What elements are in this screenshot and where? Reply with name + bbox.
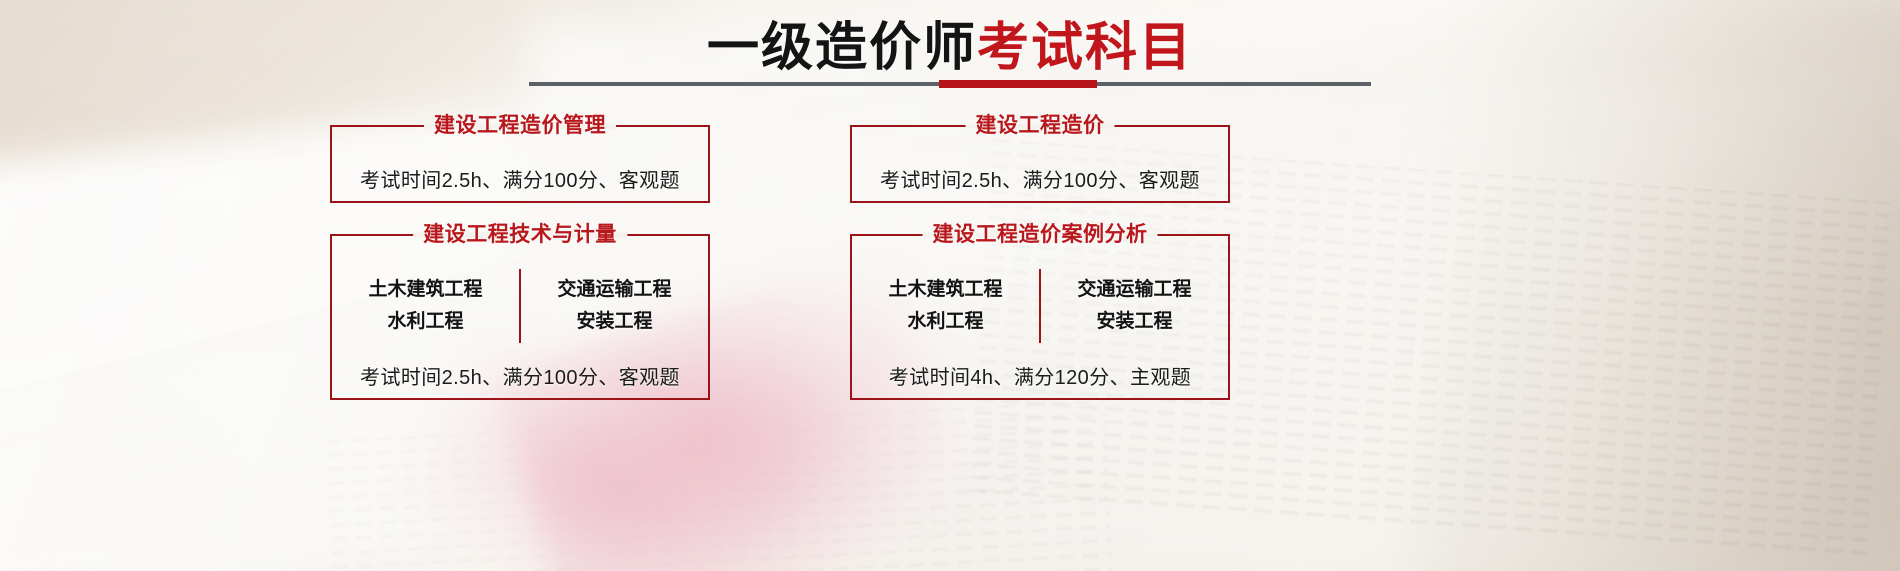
subject-specialty-column-left: 土木建筑工程 水利工程 (332, 274, 519, 338)
subject-card-title: 建设工程造价 (966, 112, 1115, 140)
subject-card-title: 建设工程造价管理 (424, 112, 616, 140)
subject-specialty-item: 交通运输工程 (1041, 274, 1228, 306)
subject-card-grid: 建设工程造价管理 考试时间2.5h、满分100分、客观题 建设工程造价 考试时间… (330, 125, 1590, 400)
poster-root: 一级造价师考试科目 建设工程造价管理 考试时间2.5h、满分100分、客观题 建… (0, 0, 1900, 571)
subject-specialty-column-left: 土木建筑工程 水利工程 (852, 274, 1039, 338)
subject-card-exam-info: 考试时间2.5h、满分100分、客观题 (332, 155, 708, 201)
title-divider-accent (939, 80, 1097, 88)
subject-card-construction-cost-management[interactable]: 建设工程造价管理 考试时间2.5h、满分100分、客观题 (330, 125, 710, 203)
subject-specialty-column-right: 交通运输工程 安装工程 (521, 274, 708, 338)
subject-card-construction-cost[interactable]: 建设工程造价 考试时间2.5h、满分100分、客观题 (850, 125, 1230, 203)
subject-card-title: 建设工程技术与计量 (413, 221, 627, 249)
page-title-accent: 考试科目 (977, 19, 1193, 77)
card-row-top: 建设工程造价管理 考试时间2.5h、满分100分、客观题 建设工程造价 考试时间… (330, 125, 1590, 203)
subject-card-title: 建设工程造价案例分析 (923, 221, 1158, 249)
subject-specialty-item: 安装工程 (521, 306, 708, 338)
subject-specialty-item: 土木建筑工程 (852, 274, 1039, 306)
page-title-primary: 一级造价师 (707, 19, 977, 77)
subject-specialty-item: 水利工程 (332, 306, 519, 338)
subject-specialty-column-right: 交通运输工程 安装工程 (1041, 274, 1228, 338)
subject-specialty-item: 安装工程 (1041, 306, 1228, 338)
subject-card-exam-info: 考试时间4h、满分120分、主观题 (852, 352, 1228, 398)
subject-specialty-columns: 土木建筑工程 水利工程 交通运输工程 安装工程 (852, 258, 1228, 354)
page-title: 一级造价师考试科目 (707, 18, 1193, 79)
card-row-bottom: 建设工程技术与计量 土木建筑工程 水利工程 交通运输工程 安装工程 考试时间2.… (330, 234, 1590, 400)
subject-specialty-columns: 土木建筑工程 水利工程 交通运输工程 安装工程 (332, 258, 708, 354)
subject-card-exam-info: 考试时间2.5h、满分100分、客观题 (332, 352, 708, 398)
subject-card-cost-case-analysis[interactable]: 建设工程造价案例分析 土木建筑工程 水利工程 交通运输工程 安装工程 考试时间4… (850, 234, 1230, 400)
page-title-block: 一级造价师考试科目 (0, 18, 1900, 79)
title-divider (529, 82, 1371, 86)
subject-card-exam-info: 考试时间2.5h、满分100分、客观题 (852, 155, 1228, 201)
subject-card-technology-and-measurement[interactable]: 建设工程技术与计量 土木建筑工程 水利工程 交通运输工程 安装工程 考试时间2.… (330, 234, 710, 400)
subject-specialty-item: 交通运输工程 (521, 274, 708, 306)
subject-specialty-item: 水利工程 (852, 306, 1039, 338)
subject-specialty-item: 土木建筑工程 (332, 274, 519, 306)
